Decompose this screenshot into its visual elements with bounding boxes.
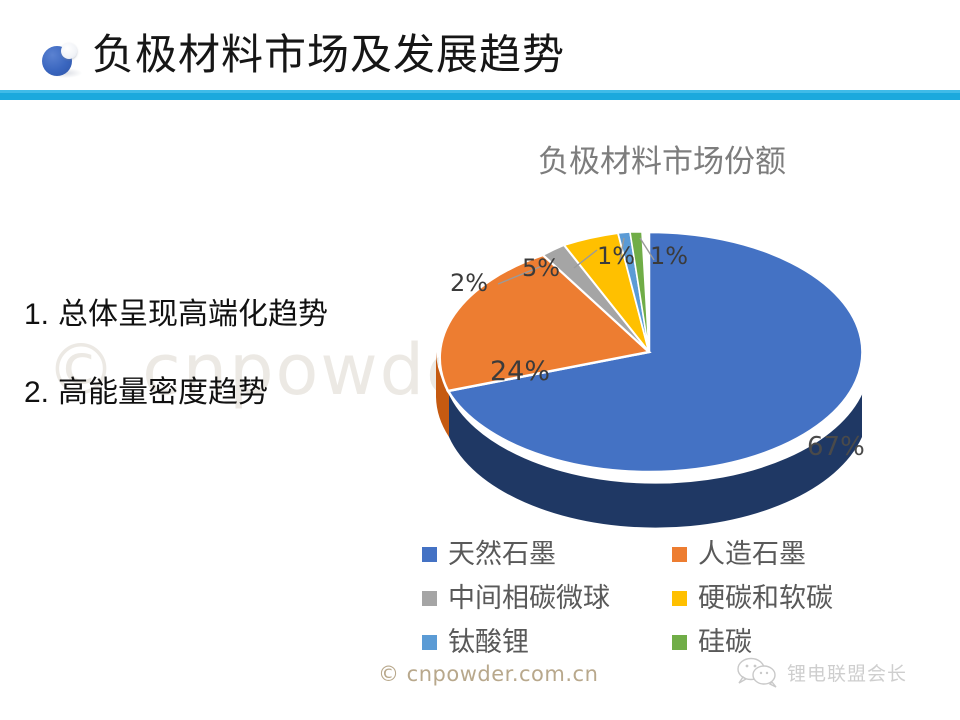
legend-label: 人造石墨 [698,538,806,570]
legend-label: 钛酸锂 [448,626,529,658]
wechat-icon [735,655,781,689]
pie-value-label-0: 67% [807,432,865,462]
legend-swatch-icon [672,635,687,650]
legend-swatch-icon [422,591,437,606]
legend-label: 天然石墨 [448,538,556,570]
pie-value-label-1: 24% [490,356,550,387]
legend-item-hard-soft-carbon[interactable]: 硬碳和软碳 [672,576,902,620]
legend-swatch-icon [672,591,687,606]
pie-graphic: 67% 24% 2% 5% 1% 1% [392,192,932,552]
header-divider-highlight [0,90,960,93]
chart-title: 负极材料市场份额 [392,142,932,182]
bullet-list: 1.总体呈现高端化趋势 2.高能量密度趋势 [24,296,424,452]
legend-swatch-icon [422,547,437,562]
footer-brand: 锂电联盟会长 [735,655,907,689]
legend-swatch-icon [422,635,437,650]
two-circles-bullet-icon [42,42,82,78]
legend-row: 天然石墨 人造石墨 [422,532,902,576]
legend-label: 中间相碳微球 [448,582,610,614]
list-item-label: 高能量密度趋势 [58,376,268,409]
footer-brand-label: 锂电联盟会长 [787,659,907,686]
pie-chart: 负极材料市场份额 [392,132,932,672]
pie-value-label-5: 1% [650,242,688,270]
page-title: 负极材料市场及发展趋势 [92,25,565,85]
list-item-number: 1. [24,296,58,334]
pie-value-label-2: 2% [450,269,488,297]
watermark-footer: © cnpowder.com.cn [378,662,598,686]
list-item-number: 2. [24,374,58,412]
legend-item-lithium-titanate[interactable]: 钛酸锂 [422,620,672,664]
legend-item-mcmb[interactable]: 中间相碳微球 [422,576,672,620]
pie-value-label-3: 5% [522,254,560,282]
legend-row: 中间相碳微球 硬碳和软碳 [422,576,902,620]
legend-label: 硬碳和软碳 [698,582,833,614]
legend-item-natural-graphite[interactable]: 天然石墨 [422,532,672,576]
slide: 负极材料市场及发展趋势 © cnpowder.com.cn 1.总体呈现高端化趋… [0,0,960,720]
list-item-label: 总体呈现高端化趋势 [58,298,328,331]
pie-value-label-4: 1% [597,242,635,270]
list-item: 2.高能量密度趋势 [24,374,424,412]
list-item: 1.总体呈现高端化趋势 [24,296,424,334]
legend-label: 硅碳 [698,626,752,658]
slide-header: 负极材料市场及发展趋势 [0,0,960,92]
chart-legend: 天然石墨 人造石墨 中间相碳微球 硬碳和软碳 [422,532,902,664]
legend-swatch-icon [672,547,687,562]
legend-item-artificial-graphite[interactable]: 人造石墨 [672,532,902,576]
